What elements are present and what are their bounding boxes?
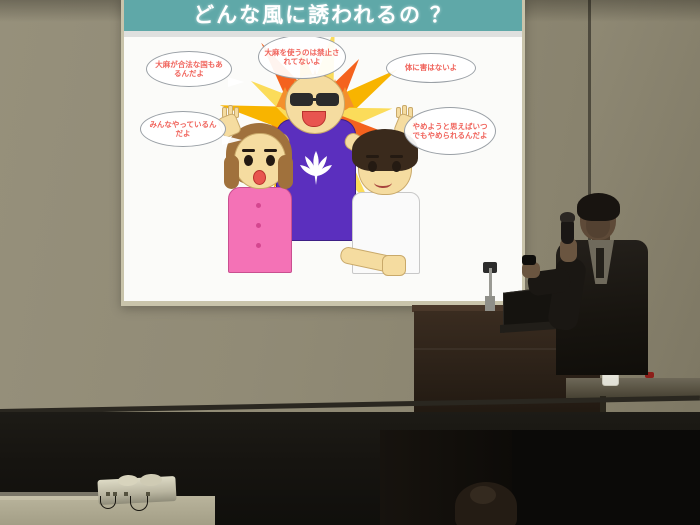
handheld-microphone-head [560,212,575,222]
girl-mouth [253,170,266,185]
bubble-everyone-does: みんなやっているんだよ [140,111,226,147]
girl-button-2 [256,223,261,228]
slide-title-band: どんな風に誘われるの ？ [124,0,522,31]
slide-body: 大麻が合法な国もあるんだよ 大麻を使うのは禁止されてないよ 体に害はないよ みん… [124,37,522,301]
dark-foreground-right [512,430,700,525]
projector-vent-1 [106,492,110,496]
presentation-remote [522,255,536,265]
girl-eye-right [266,155,275,166]
dealer-sunglasses-bridge [313,98,318,101]
bubble-tail-2 [222,135,242,145]
girl-eye-left [244,155,253,166]
bubble-tail-1 [228,77,244,87]
bubble-can-quit: やめようと思えばいつでもやめられるんだよ [404,107,496,155]
gooseneck-microphone-base [485,296,495,311]
girl-brow-left [242,149,255,152]
presenter-tie [596,248,604,278]
bubble-not-prohibited: 大麻を使うのは禁止されてないよ [258,37,346,79]
presenter-hair [577,193,620,221]
girl-torso [228,187,292,273]
cannabis-leaf-icon [300,149,332,185]
girl-brow-right [264,149,277,152]
projector-vent-4 [146,492,150,496]
boy-brow-right [390,155,403,158]
projector-vent-2 [113,492,117,496]
boy-brow-left [366,155,379,158]
girl-button-1 [256,203,261,208]
presentation-photo: どんな風に誘われるの ？ [0,0,700,525]
boy-mouth [374,177,392,188]
boy-eye-right [392,161,401,172]
girl-hair-left [224,155,239,189]
slide-title: どんな風に誘われるの ？ [193,0,453,29]
girl-hair-right [278,155,293,189]
audience-hair-highlight [470,486,496,504]
projector-vent-3 [124,492,128,496]
boy-hand [382,255,406,276]
bubble-legal-countries: 大麻が合法な国もあるんだよ [146,51,232,87]
bubble-no-harm: 体に害はないよ [386,53,476,83]
dealer-sunglasses-left [290,93,313,106]
boy-eye-left [368,161,377,172]
girl-button-3 [256,243,261,248]
projection-screen: どんな風に誘われるの ？ [124,0,522,301]
dealer-sunglasses-right [316,93,339,106]
